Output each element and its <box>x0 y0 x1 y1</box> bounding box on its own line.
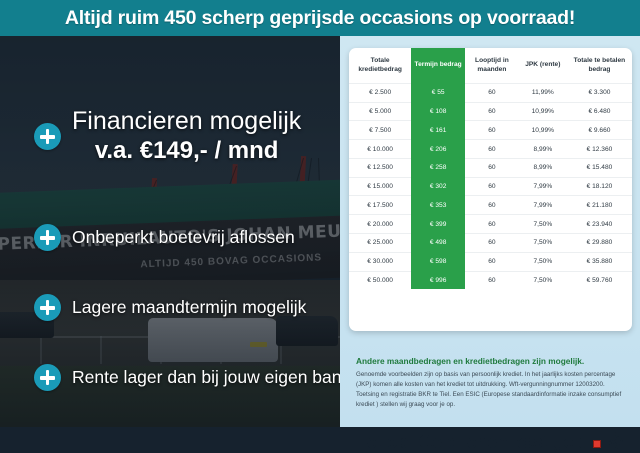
cell-term-amount: € 598 <box>411 252 465 271</box>
legal-body-text: Genoemde voorbeelden zijn op basis van p… <box>356 370 624 410</box>
cell-jpk: 7,50% <box>519 252 567 271</box>
header-total-credit: Totale kredietbedrag <box>349 48 411 83</box>
feature-item-3: Rente lager dan bij jouw eigen bank <box>34 364 348 391</box>
cell-jpk: 10,99% <box>519 102 567 121</box>
cell-total-credit: € 50.000 <box>349 271 411 289</box>
credit-table-body: € 2.500€ 556011,99%€ 3.300€ 5.000€ 10860… <box>349 83 632 289</box>
feature-item-label: Onbeperkt boetevrij aflossen <box>72 227 295 248</box>
cell-term-amount: € 996 <box>411 271 465 289</box>
cell-total-payable: € 12.360 <box>567 140 632 159</box>
cell-total-credit: € 30.000 <box>349 252 411 271</box>
running-person-icon <box>593 431 623 453</box>
table-row: € 12.500€ 258608,99%€ 15.480 <box>349 158 632 177</box>
cell-duration: 60 <box>465 140 519 159</box>
cell-duration: 60 <box>465 102 519 121</box>
cell-term-amount: € 302 <box>411 177 465 196</box>
feature-item-1: Onbeperkt boetevrij aflossen <box>34 224 295 251</box>
cell-duration: 60 <box>465 215 519 234</box>
warning-box-shape <box>593 440 601 448</box>
loan-warning: Let op! Geld lenen kost geld <box>356 431 623 453</box>
table-row: € 17.500€ 353607,99%€ 21.180 <box>349 196 632 215</box>
headline-line-1: Financieren mogelijk <box>72 108 301 135</box>
header-total-payable: Totale te betalen bedrag <box>567 48 632 83</box>
cell-jpk: 10,99% <box>519 121 567 140</box>
cell-duration: 60 <box>465 158 519 177</box>
feature-item-2: Lagere maandtermijn mogelijk <box>34 294 306 321</box>
promo-banner-text: Altijd ruim 450 scherp geprijsde occasio… <box>65 7 575 30</box>
plus-icon <box>34 364 61 391</box>
promo-banner: Altijd ruim 450 scherp geprijsde occasio… <box>0 0 640 36</box>
cell-total-payable: € 15.480 <box>567 158 632 177</box>
cell-term-amount: € 399 <box>411 215 465 234</box>
table-row: € 5.000€ 1086010,99%€ 6.480 <box>349 102 632 121</box>
cell-term-amount: € 353 <box>411 196 465 215</box>
cell-total-credit: € 5.000 <box>349 102 411 121</box>
cell-total-credit: € 7.500 <box>349 121 411 140</box>
cell-jpk: 7,99% <box>519 196 567 215</box>
credit-info-panel: Totale kredietbedrag Termijn bedrag Loop… <box>340 36 640 427</box>
cell-total-payable: € 29.880 <box>567 234 632 253</box>
runner-glyph <box>608 431 623 453</box>
cell-total-payable: € 23.940 <box>567 215 632 234</box>
cell-duration: 60 <box>465 196 519 215</box>
cell-jpk: 8,99% <box>519 140 567 159</box>
cell-term-amount: € 161 <box>411 121 465 140</box>
plus-icon <box>34 123 61 150</box>
cell-duration: 60 <box>465 271 519 289</box>
headline-line-2: v.a. €149,- / mnd <box>72 137 301 166</box>
feature-item-label: Rente lager dan bij jouw eigen bank <box>72 367 348 388</box>
table-row: € 25.000€ 498607,50%€ 29.880 <box>349 234 632 253</box>
header-jpk: JPK (rente) <box>519 48 567 83</box>
credit-table-card: Totale kredietbedrag Termijn bedrag Loop… <box>349 48 632 331</box>
feature-item-label: Lagere maandtermijn mogelijk <box>72 297 306 318</box>
plus-icon <box>34 294 61 321</box>
cell-total-payable: € 9.660 <box>567 121 632 140</box>
table-row: € 15.000€ 302607,99%€ 18.120 <box>349 177 632 196</box>
cell-total-payable: € 21.180 <box>567 196 632 215</box>
cell-total-credit: € 2.500 <box>349 83 411 102</box>
legal-heading: Andere maandbedragen en kredietbedragen … <box>356 356 624 367</box>
cell-duration: 60 <box>465 177 519 196</box>
cell-term-amount: € 55 <box>411 83 465 102</box>
cell-jpk: 11,99% <box>519 83 567 102</box>
table-row: € 20.000€ 399607,50%€ 23.940 <box>349 215 632 234</box>
cell-term-amount: € 498 <box>411 234 465 253</box>
cell-jpk: 7,50% <box>519 215 567 234</box>
cell-total-payable: € 59.760 <box>567 271 632 289</box>
header-term-amount: Termijn bedrag <box>411 48 465 83</box>
cell-total-credit: € 17.500 <box>349 196 411 215</box>
cell-total-payable: € 6.480 <box>567 102 632 121</box>
cell-jpk: 7,99% <box>519 177 567 196</box>
cell-duration: 60 <box>465 252 519 271</box>
cell-total-credit: € 25.000 <box>349 234 411 253</box>
plus-icon <box>34 224 61 251</box>
cell-total-credit: € 15.000 <box>349 177 411 196</box>
cell-term-amount: € 258 <box>411 158 465 177</box>
cell-duration: 60 <box>465 121 519 140</box>
cell-jpk: 7,50% <box>519 271 567 289</box>
cell-duration: 60 <box>465 234 519 253</box>
table-row: € 2.500€ 556011,99%€ 3.300 <box>349 83 632 102</box>
cell-total-credit: € 12.500 <box>349 158 411 177</box>
cell-jpk: 7,50% <box>519 234 567 253</box>
cell-total-credit: € 20.000 <box>349 215 411 234</box>
feature-list: Financieren mogelijk v.a. €149,- / mnd O… <box>0 36 348 427</box>
table-row: € 7.500€ 1616010,99%€ 9.660 <box>349 121 632 140</box>
cell-total-credit: € 10.000 <box>349 140 411 159</box>
table-header-row: Totale kredietbedrag Termijn bedrag Loop… <box>349 48 632 83</box>
table-row: € 10.000€ 206608,99%€ 12.360 <box>349 140 632 159</box>
cell-jpk: 8,99% <box>519 158 567 177</box>
loan-warning-text: Let op! Geld lenen kost geld <box>356 432 589 453</box>
cell-term-amount: € 206 <box>411 140 465 159</box>
table-row: € 30.000€ 598607,50%€ 35.880 <box>349 252 632 271</box>
headline-block: Financieren mogelijk v.a. €149,- / mnd <box>34 108 301 165</box>
dealership-photo-panel: PERLER INRUILAUTO'S JOHAN MEURE ALTIJD 4… <box>0 36 348 427</box>
credit-table-head: Totale kredietbedrag Termijn bedrag Loop… <box>349 48 632 83</box>
cell-duration: 60 <box>465 83 519 102</box>
cell-total-payable: € 35.880 <box>567 252 632 271</box>
table-row: € 50.000€ 996607,50%€ 59.760 <box>349 271 632 289</box>
cell-term-amount: € 108 <box>411 102 465 121</box>
cell-total-payable: € 3.300 <box>567 83 632 102</box>
cell-total-payable: € 18.120 <box>567 177 632 196</box>
headline-lines: Financieren mogelijk v.a. €149,- / mnd <box>72 108 301 165</box>
header-duration: Looptijd in maanden <box>465 48 519 83</box>
credit-table: Totale kredietbedrag Termijn bedrag Loop… <box>349 48 632 289</box>
